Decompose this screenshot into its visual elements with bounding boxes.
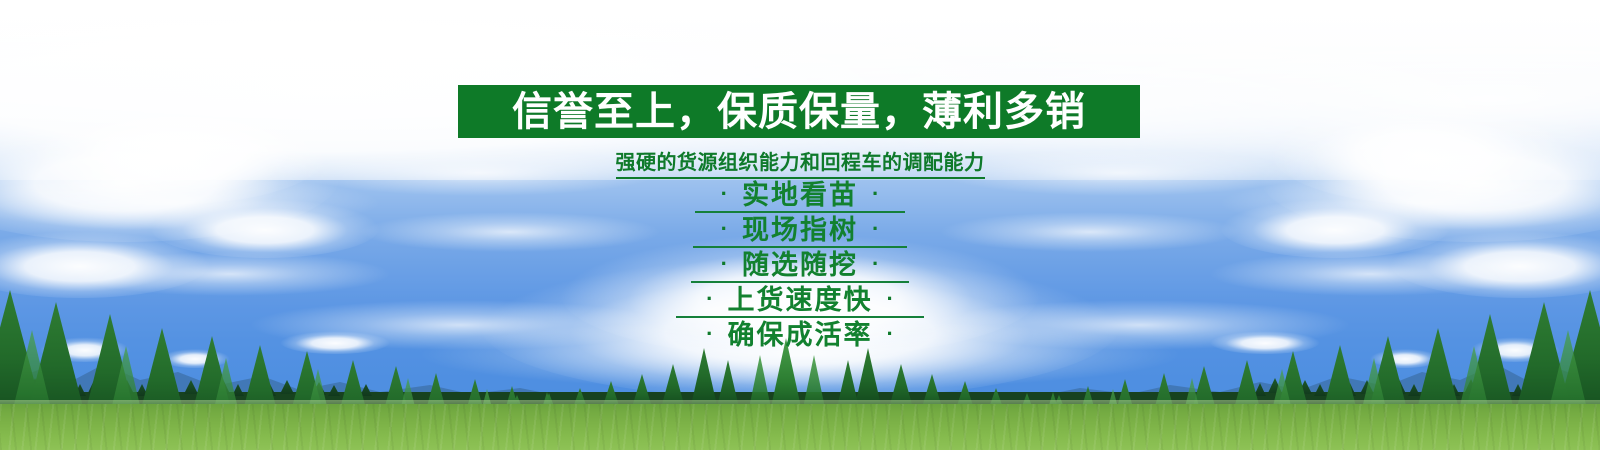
feature-label: 确保成活率 — [728, 322, 873, 349]
subtitle-text: 强硬的货源组织能力和回程车的调配能力 — [616, 146, 985, 179]
bullet-dot-icon: · — [706, 288, 713, 310]
bullet-dot-icon: · — [887, 288, 894, 310]
feature-label: 实地看苗 — [742, 182, 858, 209]
bullet-dot-icon: · — [887, 323, 894, 345]
bullet-dot-icon: · — [872, 253, 879, 275]
headline-bar: 信誉至上，保质保量，薄利多销 — [458, 85, 1140, 138]
feature-label: 上货速度快 — [728, 287, 873, 314]
bullet-dot-icon: · — [721, 218, 728, 240]
feature-list: · 实地看苗 · · 现场指树 · · 随选随挖 · · 上货速度快 · — [0, 178, 1600, 353]
headline-text: 信誉至上，保质保量，薄利多销 — [512, 92, 1086, 132]
bullet-dot-icon: · — [721, 253, 728, 275]
bullet-dot-icon: · — [706, 323, 713, 345]
bullet-dot-icon: · — [872, 183, 879, 205]
list-item: · 实地看苗 · — [0, 178, 1600, 213]
list-item: · 上货速度快 · — [0, 283, 1600, 318]
banner-content: 信誉至上，保质保量，薄利多销 强硬的货源组织能力和回程车的调配能力 · 实地看苗… — [0, 0, 1600, 450]
list-item: · 现场指树 · — [0, 213, 1600, 248]
feature-label: 现场指树 — [742, 217, 858, 244]
promo-banner: 信誉至上，保质保量，薄利多销 强硬的货源组织能力和回程车的调配能力 · 实地看苗… — [0, 0, 1600, 450]
feature-label: 随选随挖 — [742, 252, 858, 279]
subtitle: 强硬的货源组织能力和回程车的调配能力 — [0, 146, 1600, 179]
list-item: · 确保成活率 · — [0, 318, 1600, 353]
list-item: · 随选随挖 · — [0, 248, 1600, 283]
bullet-dot-icon: · — [721, 183, 728, 205]
bullet-dot-icon: · — [872, 218, 879, 240]
